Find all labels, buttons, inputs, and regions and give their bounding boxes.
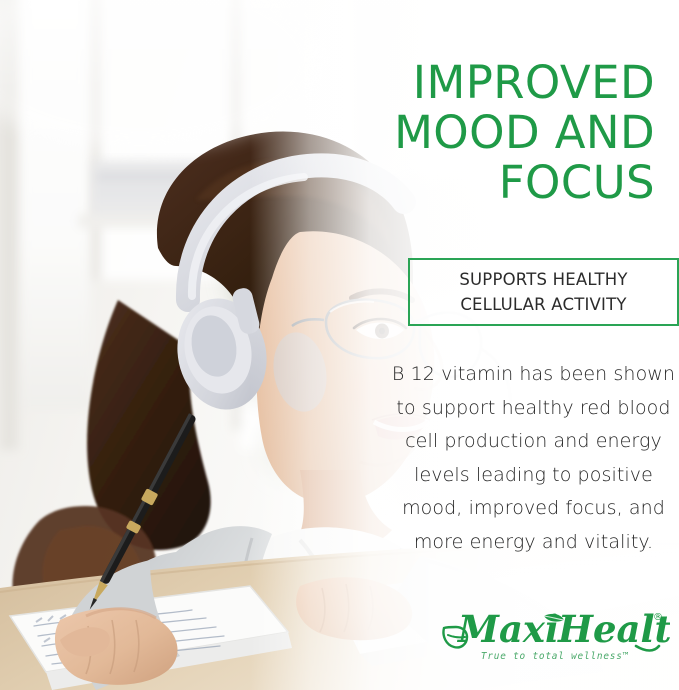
promotional-image-canvas: IMPROVED MOOD AND FOCUS SUPPORTS HEALTHY… [0, 0, 679, 690]
headline: IMPROVED MOOD AND FOCUS [355, 58, 655, 208]
subtitle-line-1: SUPPORTS HEALTHY [459, 267, 627, 292]
body-copy: B 12 vitamin has been shown to support h… [388, 358, 679, 559]
body-copy-line-4: levels leading to positive [388, 459, 679, 493]
body-copy-line-2: to support healthy red blood [388, 392, 679, 426]
headline-line-2: MOOD AND [355, 108, 655, 158]
subtitle-box: SUPPORTS HEALTHY CELLULAR ACTIVITY [408, 258, 679, 326]
logo-tagline: True to total wellness™ [481, 651, 629, 662]
headline-line-1: IMPROVED [355, 58, 655, 108]
logo-wordmark-maxi: Maxi [456, 607, 559, 651]
body-copy-line-6: more energy and vitality. [388, 526, 679, 560]
body-copy-line-5: mood, improved focus, and [388, 492, 679, 526]
registered-trademark-icon: ® [653, 612, 663, 623]
headline-line-3: FOCUS [355, 158, 655, 208]
subtitle-text: SUPPORTS HEALTHY CELLULAR ACTIVITY [459, 267, 627, 317]
marketing-copy-panel: IMPROVED MOOD AND FOCUS SUPPORTS HEALTHY… [340, 0, 679, 690]
maxi-health-logo: Maxi Health ® True to total wellness™ [440, 602, 670, 664]
body-copy-line-3: cell production and energy [388, 425, 679, 459]
body-copy-line-1: B 12 vitamin has been shown [388, 358, 679, 392]
subtitle-line-2: CELLULAR ACTIVITY [459, 292, 627, 317]
